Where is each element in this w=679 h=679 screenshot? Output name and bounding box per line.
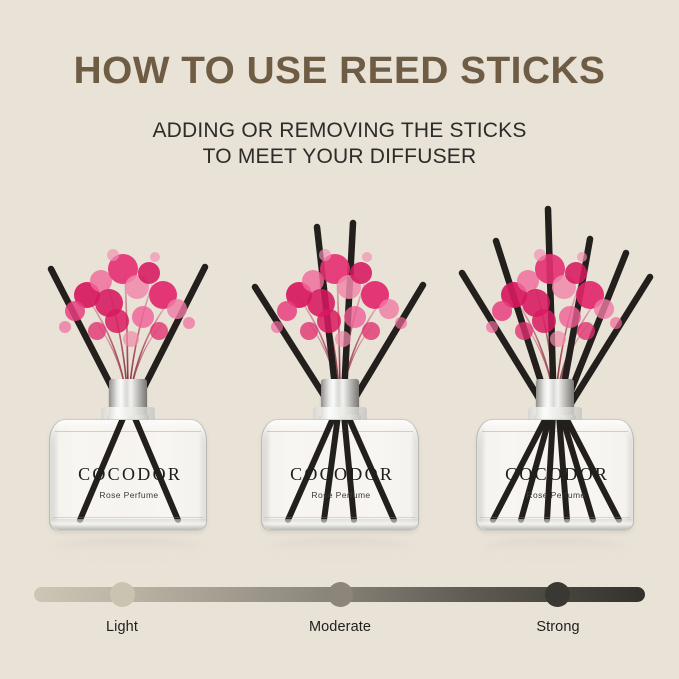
slider-knob-moderate[interactable]	[328, 582, 353, 607]
variant-label: Rose Perfume	[262, 490, 419, 500]
bottle-base	[478, 519, 634, 530]
infographic-page: HOW TO USE REED STICKS ADDING OR REMOVIN…	[0, 0, 679, 679]
subtitle-line-2: TO MEET YOUR DIFFUSER	[0, 144, 679, 170]
slider-knob-light[interactable]	[110, 582, 135, 607]
bottle-glass: COCODOR Rose Perfume	[261, 419, 419, 531]
bottle-glass: COCODOR Rose Perfume	[476, 419, 634, 531]
slider-label-light: Light	[52, 619, 192, 635]
diffuser-strong: COCODOR Rose Perfume	[471, 196, 639, 564]
brand-label: COCODOR	[262, 464, 419, 485]
bottle-moderate: COCODOR Rose Perfume	[261, 413, 419, 538]
bottle-base	[263, 519, 419, 530]
slider-label-strong: Strong	[488, 619, 628, 635]
intensity-slider[interactable]: Light Moderate Strong	[0, 572, 679, 652]
bottle-light: COCODOR Rose Perfume	[49, 413, 207, 538]
header: HOW TO USE REED STICKS ADDING OR REMOVIN…	[0, 0, 679, 169]
page-subtitle: ADDING OR REMOVING THE STICKS TO MEET YO…	[0, 118, 679, 169]
subtitle-line-1: ADDING OR REMOVING THE STICKS	[0, 118, 679, 144]
diffuser-moderate: COCODOR Rose Perfume	[256, 196, 424, 564]
bottle-reflection	[53, 538, 203, 562]
slider-knob-strong[interactable]	[545, 582, 570, 607]
bottle-reflection	[480, 538, 630, 562]
variant-label: Rose Perfume	[477, 490, 634, 500]
slider-label-moderate: Moderate	[270, 619, 410, 635]
bottle-glass: COCODOR Rose Perfume	[49, 419, 207, 531]
variant-label: Rose Perfume	[50, 490, 207, 500]
bottle-reflection	[265, 538, 415, 562]
brand-label: COCODOR	[477, 464, 634, 485]
diffuser-light: COCODOR Rose Perfume	[44, 196, 212, 564]
page-title: HOW TO USE REED STICKS	[0, 52, 679, 92]
diffuser-row: COCODOR Rose Perfume	[0, 196, 679, 564]
bottle-strong: COCODOR Rose Perfume	[476, 413, 634, 538]
brand-label: COCODOR	[50, 464, 207, 485]
bottle-base	[51, 519, 207, 530]
